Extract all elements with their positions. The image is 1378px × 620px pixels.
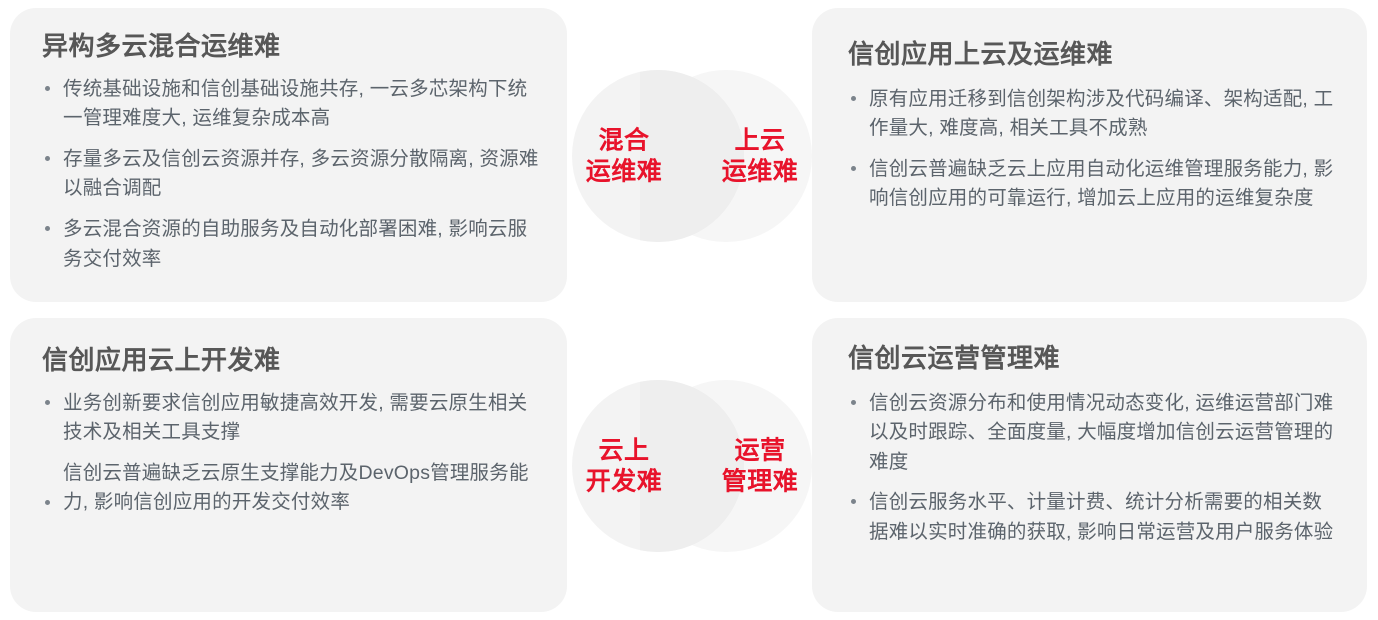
- venn-label-hybrid-ops: 混合 运维难: [569, 126, 679, 187]
- venn-diagram-bottom: 云上 开发难 运营 管理难: [572, 380, 812, 552]
- card-title: 异构多云混合运维难: [42, 30, 541, 63]
- bullet-dot-icon: [851, 96, 856, 101]
- list-item: 原有应用迁移到信创架构涉及代码编译、架构适配, 工作量大, 难度高, 相关工具不…: [848, 85, 1341, 144]
- bullet-list: 信创云资源分布和使用情况动态变化, 运维运营部门难以及时跟踪、全面度量, 大幅度…: [848, 389, 1341, 548]
- bullet-dot-icon: [45, 156, 50, 161]
- card-app-migration-ops: 信创应用上云及运维难 原有应用迁移到信创架构涉及代码编译、架构适配, 工作量大,…: [812, 8, 1367, 302]
- card-title: 信创应用云上开发难: [42, 344, 541, 377]
- venn-label-operations-management: 运营 管理难: [705, 436, 815, 497]
- list-item: 信创云服务水平、计量计费、统计分析需要的相关数据难以实时准确的获取, 影响日常运…: [848, 488, 1341, 547]
- venn-diagram-top: 混合 运维难 上云 运维难: [572, 70, 812, 242]
- bullet-text: 信创云服务水平、计量计费、统计分析需要的相关数据难以实时准确的获取, 影响日常运…: [869, 491, 1333, 543]
- bullet-text: 原有应用迁移到信创架构涉及代码编译、架构适配, 工作量大, 难度高, 相关工具不…: [869, 88, 1333, 140]
- bullet-text: 存量多云及信创云资源并存, 多云资源分散隔离, 资源难以融合调配: [63, 148, 539, 200]
- bullet-text: 业务创新要求信创应用敏捷高效开发, 需要云原生相关技术及相关工具支撑: [63, 392, 527, 444]
- card-content: 信创应用云上开发难 业务创新要求信创应用敏捷高效开发, 需要云原生相关技术及相关…: [10, 318, 567, 518]
- infographic-board: 异构多云混合运维难 传统基础设施和信创基础设施共存, 一云多芯架构下统一管理难度…: [0, 0, 1378, 620]
- bullet-dot-icon: [851, 166, 856, 171]
- card-content: 信创云运营管理难 信创云资源分布和使用情况动态变化, 运维运营部门难以及时跟踪、…: [812, 318, 1367, 548]
- card-content: 异构多云混合运维难 传统基础设施和信创基础设施共存, 一云多芯架构下统一管理难度…: [10, 8, 567, 274]
- card-title: 信创应用上云及运维难: [848, 38, 1341, 71]
- bullet-text: 传统基础设施和信创基础设施共存, 一云多芯架构下统一管理难度大, 运维复杂成本高: [63, 78, 527, 130]
- card-cloud-operations-management: 信创云运营管理难 信创云资源分布和使用情况动态变化, 运维运营部门难以及时跟踪、…: [812, 318, 1367, 612]
- bullet-dot-icon: [45, 86, 50, 91]
- bullet-dot-icon: [45, 226, 50, 231]
- list-item: 存量多云及信创云资源并存, 多云资源分散隔离, 资源难以融合调配: [42, 145, 541, 204]
- bullet-dot-icon: [45, 400, 50, 405]
- card-cloud-native-development: 信创应用云上开发难 业务创新要求信创应用敏捷高效开发, 需要云原生相关技术及相关…: [10, 318, 567, 612]
- bullet-text: 信创云普遍缺乏云原生支撑能力及DevOps管理服务能力, 影响信创应用的开发交付…: [63, 462, 529, 514]
- bullet-list: 业务创新要求信创应用敏捷高效开发, 需要云原生相关技术及相关工具支撑 信创云普遍…: [42, 389, 541, 519]
- list-item: 信创云普遍缺乏云上应用自动化运维管理服务能力, 影响信创应用的可靠运行, 增加云…: [848, 155, 1341, 214]
- bullet-text: 信创云普遍缺乏云上应用自动化运维管理服务能力, 影响信创应用的可靠运行, 增加云…: [869, 158, 1333, 210]
- list-item: 业务创新要求信创应用敏捷高效开发, 需要云原生相关技术及相关工具支撑: [42, 389, 541, 448]
- bullet-list: 原有应用迁移到信创架构涉及代码编译、架构适配, 工作量大, 难度高, 相关工具不…: [848, 85, 1341, 215]
- list-item: 信创云普遍缺乏云原生支撑能力及DevOps管理服务能力, 影响信创应用的开发交付…: [42, 459, 541, 518]
- venn-label-cloud-development: 云上 开发难: [569, 436, 679, 497]
- card-heterogeneous-multicloud-ops: 异构多云混合运维难 传统基础设施和信创基础设施共存, 一云多芯架构下统一管理难度…: [10, 8, 567, 302]
- venn-label-cloud-migration-ops: 上云 运维难: [705, 126, 815, 187]
- list-item: 多云混合资源的自助服务及自动化部署困难, 影响云服务交付效率: [42, 215, 541, 274]
- bullet-text: 多云混合资源的自助服务及自动化部署困难, 影响云服务交付效率: [63, 218, 527, 270]
- list-item: 传统基础设施和信创基础设施共存, 一云多芯架构下统一管理难度大, 运维复杂成本高: [42, 75, 541, 134]
- card-content: 信创应用上云及运维难 原有应用迁移到信创架构涉及代码编译、架构适配, 工作量大,…: [812, 8, 1367, 214]
- list-item: 信创云资源分布和使用情况动态变化, 运维运营部门难以及时跟踪、全面度量, 大幅度…: [848, 389, 1341, 478]
- bullet-text: 信创云资源分布和使用情况动态变化, 运维运营部门难以及时跟踪、全面度量, 大幅度…: [869, 392, 1333, 473]
- bullet-dot-icon: [851, 499, 856, 504]
- bullet-dot-icon: [851, 400, 856, 405]
- bullet-dot-icon: [45, 500, 50, 505]
- card-title: 信创云运营管理难: [848, 342, 1341, 375]
- bullet-list: 传统基础设施和信创基础设施共存, 一云多芯架构下统一管理难度大, 运维复杂成本高…: [42, 75, 541, 275]
